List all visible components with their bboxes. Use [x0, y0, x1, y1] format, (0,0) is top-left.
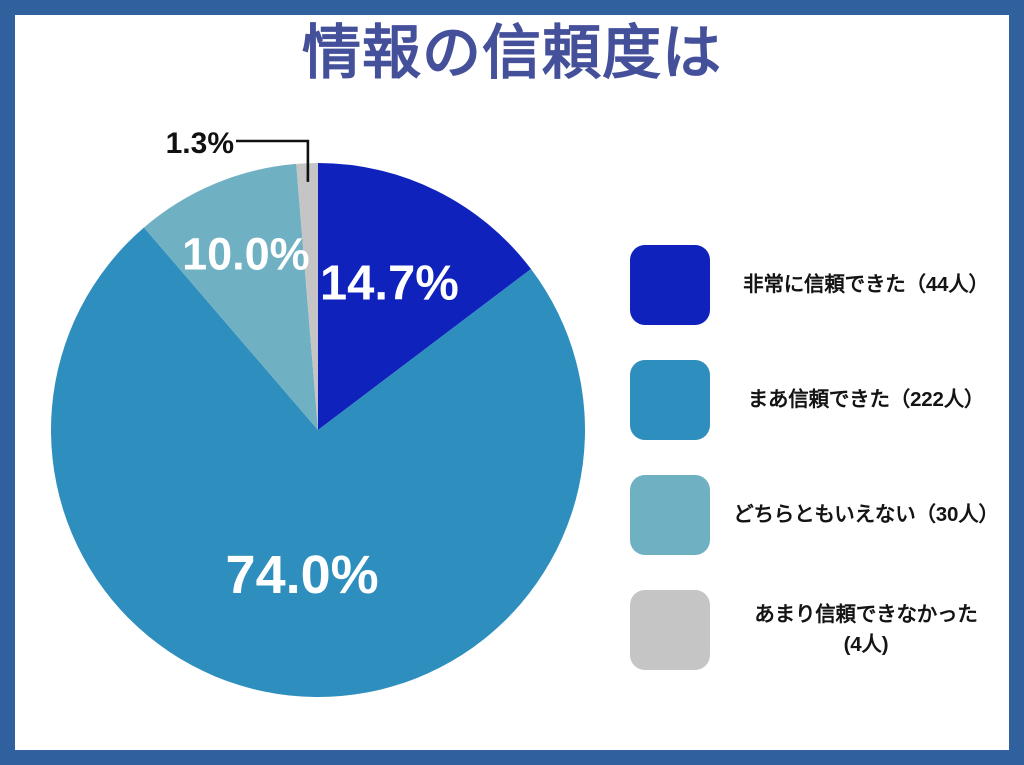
legend-color-swatch [630, 590, 710, 670]
pie-slice-percent-label: 74.0% [226, 545, 379, 605]
pie-slice-percent-label: 1.3% [166, 127, 234, 160]
legend-item[interactable]: あまり信頼できなかった(4人) [630, 590, 1010, 670]
chart-canvas: 情報の信頼度は 14.7%74.0%10.0%1.3% 非常に信頼できた（44人… [0, 0, 1024, 765]
legend-item-label-line: あまり信頼できなかった [730, 600, 1002, 630]
legend-color-swatch [630, 475, 710, 555]
legend-color-swatch [630, 245, 710, 325]
legend-color-swatch [630, 360, 710, 440]
legend-item[interactable]: まあ信頼できた（222人） [630, 360, 1010, 440]
pie-slice-percent-label: 14.7% [320, 257, 459, 311]
legend-item-label-line: (4人) [730, 630, 1002, 660]
legend-item-label: 非常に信頼できた（44人） [730, 270, 1002, 300]
pie-slice-percent-label: 10.0% [182, 228, 310, 279]
legend-item-label: まあ信頼できた（222人） [730, 385, 1002, 415]
legend-item-label: あまり信頼できなかった(4人) [730, 600, 1002, 659]
legend-item[interactable]: 非常に信頼できた（44人） [630, 245, 1010, 325]
legend-item-label: どちらともいえない（30人） [730, 500, 1002, 530]
pie-slice-group [51, 163, 585, 697]
legend-item[interactable]: どちらともいえない（30人） [630, 475, 1010, 555]
